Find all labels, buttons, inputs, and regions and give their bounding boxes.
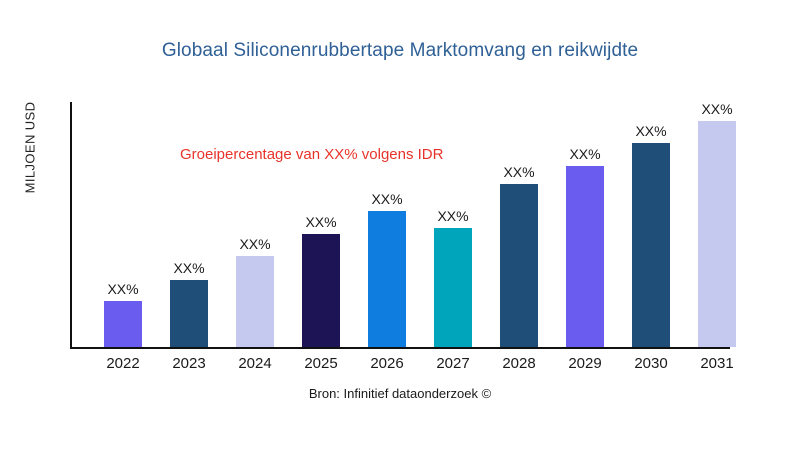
bar-group[interactable]: XX% xyxy=(104,301,142,347)
bar-value-label: XX% xyxy=(569,146,600,162)
bar-2022[interactable] xyxy=(104,301,142,347)
bar-group[interactable]: XX% xyxy=(302,234,340,347)
x-tick-2030: 2030 xyxy=(621,355,681,372)
plot-area: Groeipercentage van XX% volgens IDR XX%X… xyxy=(70,102,730,349)
source-note: Bron: Infinitief dataonderzoek © xyxy=(0,386,800,401)
bar-2029[interactable] xyxy=(566,166,604,347)
y-axis-label: MILJOEN USD xyxy=(23,38,38,258)
bar-value-label: XX% xyxy=(107,281,138,297)
x-tick-2027: 2027 xyxy=(423,355,483,372)
bar-2028[interactable] xyxy=(500,184,538,347)
bar-group[interactable]: XX% xyxy=(632,143,670,347)
x-tick-2024: 2024 xyxy=(225,355,285,372)
bar-value-label: XX% xyxy=(437,208,468,224)
bar-group[interactable]: XX% xyxy=(236,256,274,347)
bar-value-label: XX% xyxy=(371,191,402,207)
bar-2023[interactable] xyxy=(170,280,208,347)
bar-2026[interactable] xyxy=(368,211,406,347)
x-tick-2026: 2026 xyxy=(357,355,417,372)
bar-group[interactable]: XX% xyxy=(434,228,472,347)
x-tick-2022: 2022 xyxy=(93,355,153,372)
bar-value-label: XX% xyxy=(173,260,204,276)
x-tick-2031: 2031 xyxy=(687,355,747,372)
x-axis-tick-labels: 2022202320242025202620272028202920302031 xyxy=(70,355,790,379)
bar-2024[interactable] xyxy=(236,256,274,347)
bar-group[interactable]: XX% xyxy=(500,184,538,347)
bar-value-label: XX% xyxy=(239,236,270,252)
x-tick-2029: 2029 xyxy=(555,355,615,372)
bar-value-label: XX% xyxy=(635,123,666,139)
bar-group[interactable]: XX% xyxy=(698,121,736,347)
bar-group[interactable]: XX% xyxy=(170,280,208,347)
bar-group[interactable]: XX% xyxy=(368,211,406,347)
x-tick-2025: 2025 xyxy=(291,355,351,372)
x-tick-2028: 2028 xyxy=(489,355,549,372)
page-title: Globaal Siliconenrubbertape Marktomvang … xyxy=(0,40,800,62)
bar-2025[interactable] xyxy=(302,234,340,347)
bar-value-label: XX% xyxy=(701,101,732,117)
bar-2030[interactable] xyxy=(632,143,670,347)
bar-series: XX%XX%XX%XX%XX%XX%XX%XX%XX%XX% xyxy=(70,102,730,349)
bar-2027[interactable] xyxy=(434,228,472,347)
bar-value-label: XX% xyxy=(305,214,336,230)
bar-2031[interactable] xyxy=(698,121,736,347)
bar-group[interactable]: XX% xyxy=(566,166,604,347)
bar-value-label: XX% xyxy=(503,164,534,180)
x-tick-2023: 2023 xyxy=(159,355,219,372)
